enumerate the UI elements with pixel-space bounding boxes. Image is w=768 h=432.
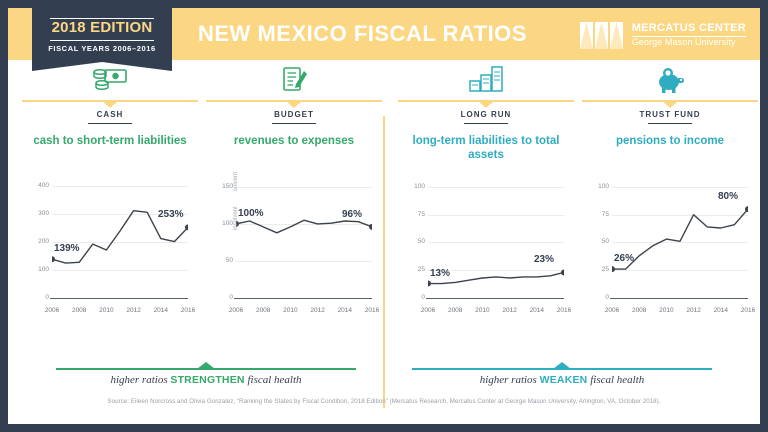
footer-right-strong: WEAKEN [540,374,588,386]
x-axis-tick-label: 2010 [475,307,489,314]
y-axis-tick-label: 75 [590,211,609,218]
panel-rule-notch [479,102,493,108]
x-axis-tick-label: 2012 [310,307,324,314]
footer-caption-right: higher ratios WEAKEN fiscal health [412,374,712,386]
end-value-label: 80% [718,191,738,202]
x-axis-tick-label: 2008 [72,307,86,314]
badge-rule-bottom [50,40,154,41]
panel-subtitle-trust-fund: pensions to income [590,134,750,148]
kicker-underline [648,123,692,124]
x-axis: 200620082010201220142016 [426,306,564,318]
footer-left-pre: higher ratios [110,374,170,386]
y-axis-tick-label: 0 [590,294,609,301]
badge-years-label: FISCAL YEARS 2006–2016 [32,44,172,53]
x-axis-tick-label: 2006 [229,307,243,314]
x-axis-tick-label: 2014 [714,307,728,314]
badge-edition-label: 2018 EDITION [32,19,172,36]
kicker-underline [464,123,508,124]
x-axis-tick-label: 2010 [283,307,297,314]
x-axis-tick-label: 2014 [154,307,168,314]
panel-row: CASH cash to short-term liabilities 0100… [8,60,760,360]
panel-kicker-cash: CASH [22,110,198,119]
y-axis-tick-label: 50 [214,257,233,264]
y-axis-tick-label: 400 [30,182,49,189]
budget-document-icon [206,62,382,96]
source-note: Source: Eileen Norcross and Olivia Gonza… [8,398,760,405]
logo-text: MERCATUS CENTER George Mason University [632,23,746,48]
x-axis-tick-label: 2006 [421,307,435,314]
x-axis: 200620082010201220142016 [50,306,188,318]
series-line [52,178,188,298]
buildings-stack-icon [398,62,574,96]
header-band: NEW MEXICO FISCAL RATIOS 2018 EDITION FI… [8,8,760,60]
footer-right-post: fiscal health [587,374,644,386]
y-axis-tick-label: 150 [214,183,233,190]
axis-baseline [234,298,372,299]
infographic-frame: NEW MEXICO FISCAL RATIOS 2018 EDITION FI… [0,0,768,432]
chart-budget: 050100150200620082010201220142016100%96%… [214,178,374,306]
start-value-label: 26% [614,253,634,264]
chart-long-run: 025507510020062008201020122014201613%23% [406,178,566,306]
panel-rule-notch [287,102,301,108]
panel-kicker-budget: BUDGET [206,110,382,119]
section-divider [383,116,385,408]
end-value-label: 253% [158,209,184,220]
end-value-label: 23% [534,254,554,265]
x-axis-tick-label: 2008 [448,307,462,314]
panel-cash: CASH cash to short-term liabilities 0100… [22,60,198,360]
panel-rule-notch [103,102,117,108]
chart-cash: 0100200300400200620082010201220142016139… [30,178,190,306]
y-axis-tick-label: 100 [30,266,49,273]
x-axis-tick-label: 2014 [338,307,352,314]
x-axis-tick-label: 2012 [502,307,516,314]
panel-trust-fund: TRUST FUND pensions to income 0255075100… [582,60,758,360]
y-axis-tick-label: 0 [406,294,425,301]
series-line [236,178,372,298]
chart-trust-fund: 025507510020062008201020122014201626%80% [590,178,750,306]
end-value-label: 96% [342,209,362,220]
x-axis: 200620082010201220142016 [610,306,748,318]
series-line [428,178,564,298]
panel-rule-notch [663,102,677,108]
axis-baseline [426,298,564,299]
panel-long-run: LONG RUN long-term liabilities to total … [398,60,574,360]
start-value-label: 13% [430,268,450,279]
footer-left-post: fiscal health [245,374,302,386]
y-axis-tick-label: 50 [406,238,425,245]
x-axis-tick-label: 2016 [741,307,755,314]
x-axis-tick-label: 2012 [126,307,140,314]
mercatus-logo: MERCATUS CENTER George Mason University [580,21,746,49]
y-axis-tick-label: 75 [406,211,425,218]
infographic-sheet: NEW MEXICO FISCAL RATIOS 2018 EDITION FI… [8,8,760,424]
footer-caption-left: higher ratios STRENGTHEN fiscal health [56,374,356,386]
axis-note-solvent: solvent [233,172,239,191]
footer-notch-right [553,362,571,369]
start-value-label: 139% [54,243,80,254]
piggy-bank-icon [582,62,758,96]
logo-name: MERCATUS CENTER [632,23,746,35]
x-axis-tick-label: 2010 [99,307,113,314]
logo-subtitle: George Mason University [632,38,746,47]
y-axis-tick-label: 0 [30,294,49,301]
axis-baseline [50,298,188,299]
x-axis-tick-label: 2016 [365,307,379,314]
panel-subtitle-cash: cash to short-term liabilities [30,134,190,148]
x-axis-tick-label: 2016 [557,307,571,314]
y-axis-tick-label: 100 [590,183,609,190]
y-axis-tick-label: 25 [406,266,425,273]
x-axis-tick-label: 2010 [659,307,673,314]
x-axis-tick-label: 2012 [686,307,700,314]
start-value-label: 100% [238,208,264,219]
y-axis-tick-label: 0 [214,294,233,301]
y-axis-tick-label: 50 [590,238,609,245]
kicker-underline [272,123,316,124]
x-axis-tick-label: 2006 [605,307,619,314]
kicker-underline [88,123,132,124]
x-axis-tick-label: 2006 [45,307,59,314]
footer-left-strong: STRENGTHEN [170,374,244,386]
axis-note-insolvent: insolvent [233,206,239,230]
panel-subtitle-long-run: long-term liabilities to total assets [406,134,566,163]
x-axis-tick-label: 2008 [632,307,646,314]
page-title: NEW MEXICO FISCAL RATIOS [198,21,527,47]
y-axis-tick-label: 100 [406,183,425,190]
x-axis-tick-label: 2008 [256,307,270,314]
cash-money-icon [22,62,198,96]
x-axis: 200620082010201220142016 [234,306,372,318]
axis-baseline [610,298,748,299]
x-axis-tick-label: 2016 [181,307,195,314]
footer-notch-left [197,362,215,369]
panel-kicker-trust-fund: TRUST FUND [582,110,758,119]
y-axis-tick-label: 300 [30,210,49,217]
x-axis-tick-label: 2014 [530,307,544,314]
panel-subtitle-budget: revenues to expenses [214,134,374,148]
panel-kicker-long-run: LONG RUN [398,110,574,119]
edition-badge: 2018 EDITION FISCAL YEARS 2006–2016 [32,8,172,62]
mercatus-logo-icon [580,22,626,49]
y-axis-tick-label: 25 [590,266,609,273]
y-axis-tick-label: 200 [30,238,49,245]
y-axis-tick-label: 100 [214,220,233,227]
panel-budget: BUDGET revenues to expenses 050100150200… [206,60,382,360]
footer-right-pre: higher ratios [480,374,540,386]
